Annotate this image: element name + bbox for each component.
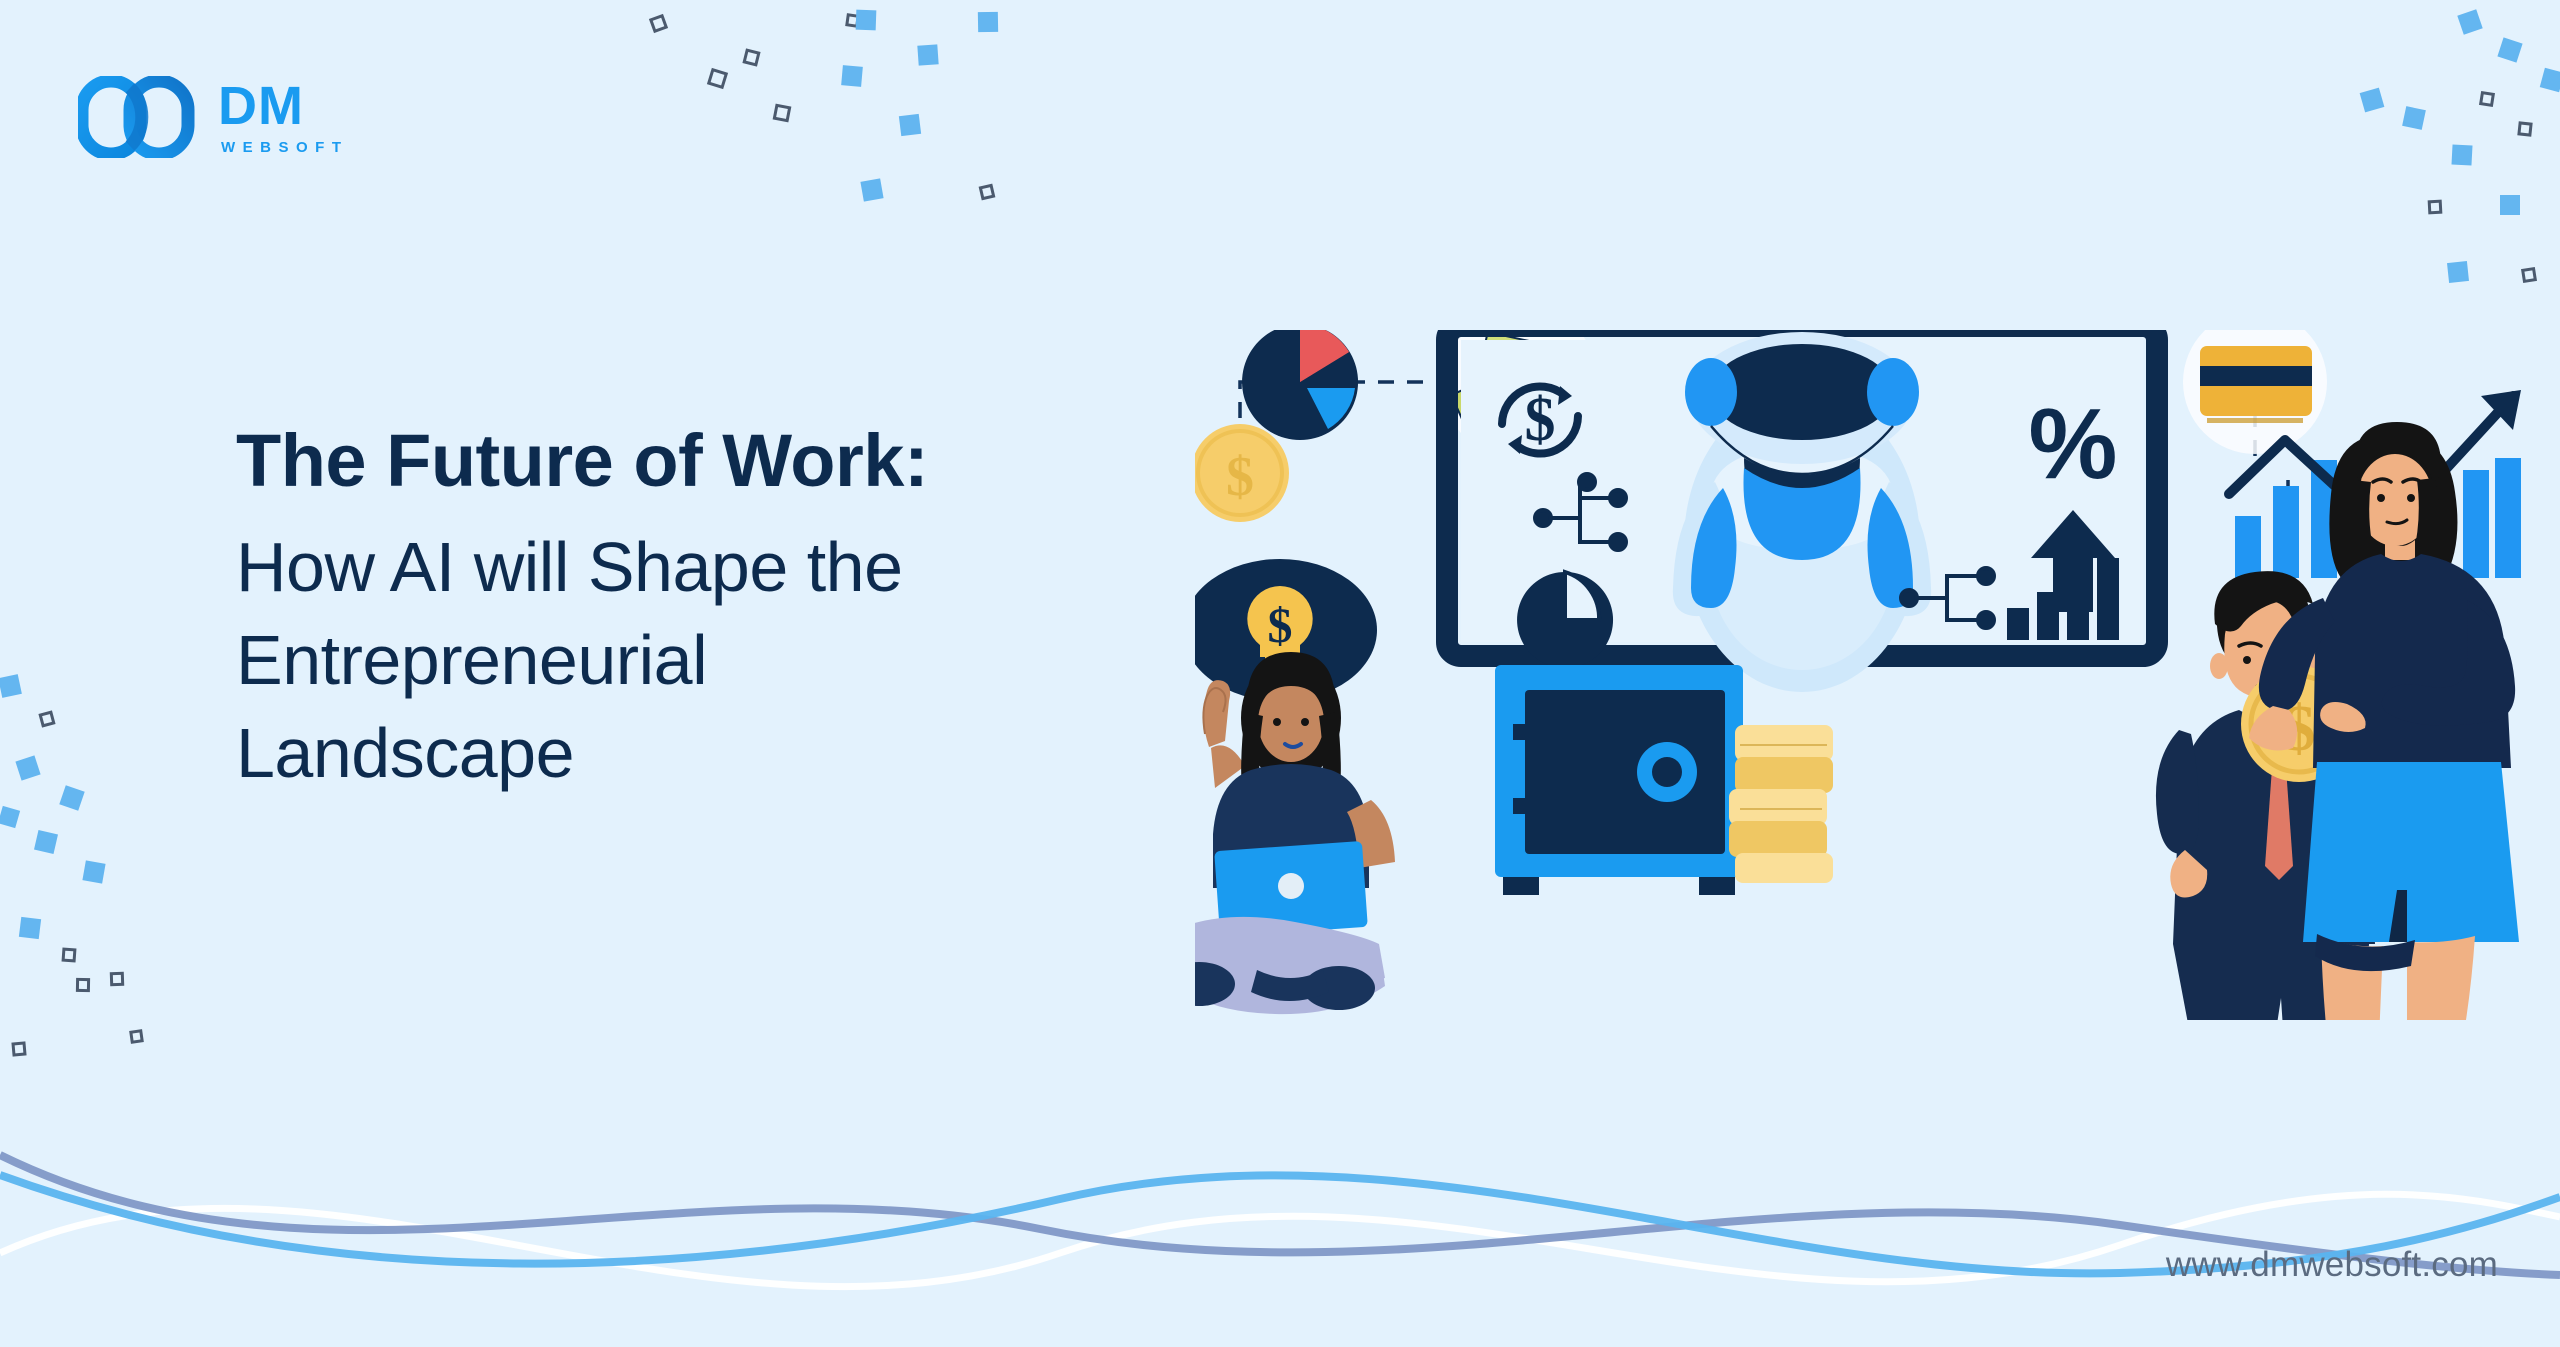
decorative-square: [856, 10, 877, 31]
decorative-square: [2447, 261, 2469, 283]
decorative-square: [2451, 144, 2472, 165]
robot-screen-icon: $: [1447, 330, 2157, 692]
brand-logo[interactable]: DM WEBSOFT: [78, 76, 349, 158]
headline-line-1: The Future of Work:: [236, 420, 1266, 503]
decorative-square: [917, 44, 938, 65]
decorative-square: [979, 184, 996, 201]
decorative-square: [76, 978, 90, 992]
logo-name: DM: [218, 79, 349, 133]
bar-chart-icon: [1517, 572, 1613, 668]
decorative-square: [2479, 91, 2495, 107]
svg-text:$: $: [1226, 446, 1254, 508]
decorative-square: [38, 710, 55, 727]
decorative-square: [2500, 195, 2520, 215]
decorative-square: [62, 948, 77, 963]
illustration-svg: $ $: [1195, 330, 2525, 1020]
decorative-square: [773, 104, 792, 123]
safe-vault-icon: [1495, 665, 1743, 895]
svg-text:$: $: [1525, 386, 1556, 454]
decorative-square: [707, 68, 728, 89]
decorative-waves: [0, 1047, 2560, 1347]
decorative-square: [2517, 121, 2532, 136]
headline-line-4: Landscape: [236, 707, 1266, 800]
decorative-square: [34, 830, 58, 854]
page-title: The Future of Work: How AI will Shape th…: [236, 420, 1266, 800]
decorative-square: [2497, 37, 2522, 62]
decorative-square: [0, 806, 20, 828]
decorative-square: [129, 1029, 144, 1044]
credit-card-icon: [2183, 330, 2327, 454]
decorative-square: [2521, 267, 2537, 283]
decorative-square: [978, 12, 998, 32]
hero-illustration: $ $: [1195, 330, 2525, 1020]
decorative-square: [15, 755, 40, 780]
svg-text:$: $: [1268, 597, 1293, 653]
robot-figure: [1673, 332, 1931, 692]
dollar-coin-icon: $: [1195, 424, 1289, 522]
decorative-square: [742, 48, 760, 66]
coin-stack-icon: [1729, 725, 1833, 883]
decorative-square: [2457, 9, 2482, 34]
decorative-square: [2360, 88, 2385, 113]
decorative-square: [649, 14, 668, 33]
poster-canvas: DM WEBSOFT The Future of Work: How AI wi…: [0, 0, 2560, 1347]
decorative-square: [2402, 106, 2426, 130]
seated-woman-laptop-figure: [1195, 652, 1395, 1014]
percent-icon: %: [2029, 388, 2118, 500]
decorative-square: [899, 114, 921, 136]
decorative-square: [19, 917, 41, 939]
headline-line-3: Entrepreneurial: [236, 614, 1266, 707]
decorative-square: [82, 860, 105, 883]
decorative-square: [0, 674, 22, 698]
decorative-square: [860, 178, 883, 201]
website-url[interactable]: www.dmwebsoft.com: [2166, 1245, 2498, 1285]
decorative-square: [2540, 68, 2560, 92]
headline-line-2: How AI will Shape the: [236, 521, 1266, 614]
interlocking-rings-icon: [78, 76, 196, 158]
decorative-square: [110, 972, 124, 986]
decorative-square: [2428, 200, 2443, 215]
decorative-square: [59, 785, 84, 810]
decorative-square: [841, 65, 863, 87]
logo-subtitle: WEBSOFT: [218, 140, 349, 155]
pie-chart-icon: [1242, 330, 1358, 440]
